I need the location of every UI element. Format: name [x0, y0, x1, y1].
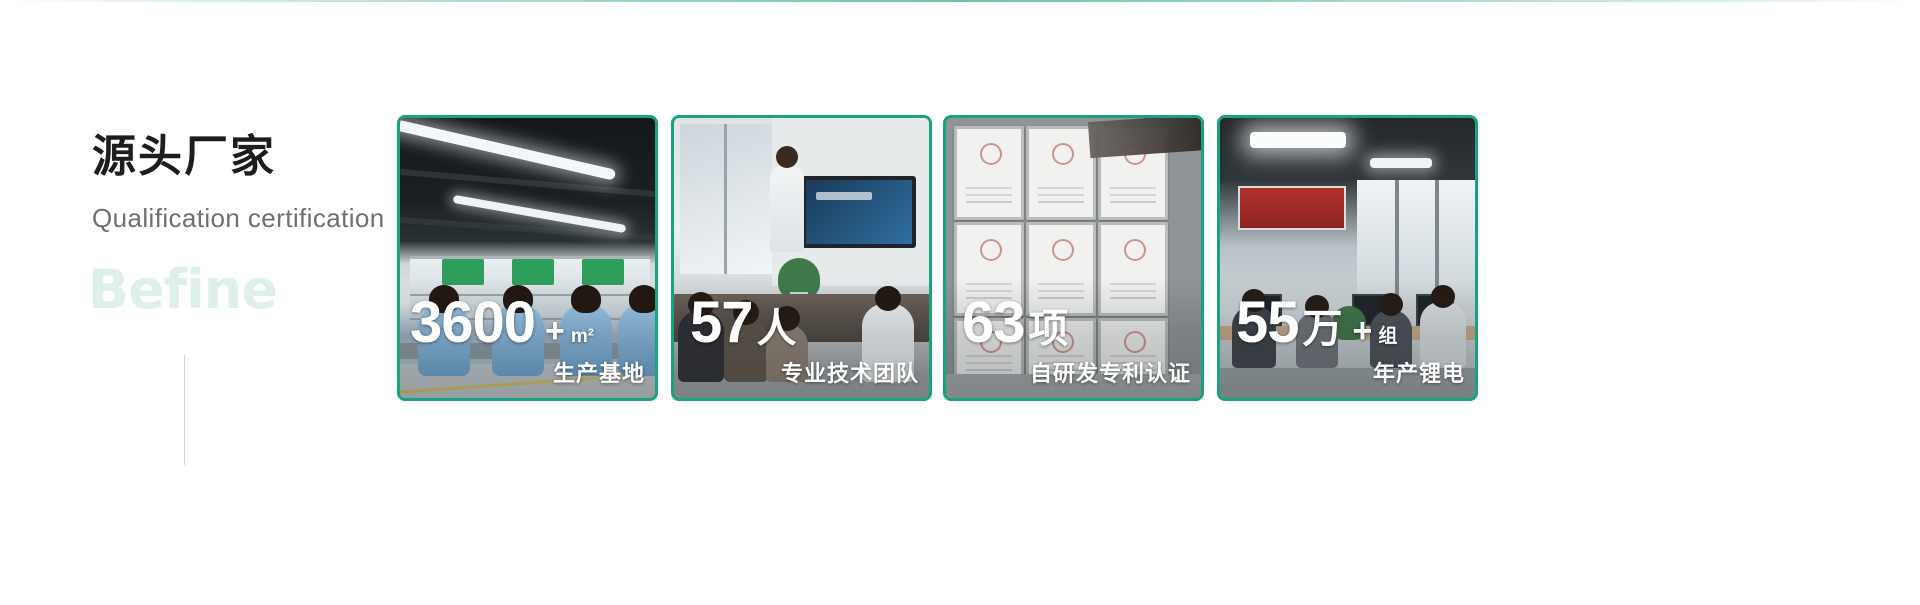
vertical-divider	[184, 355, 185, 465]
stat-superscript: 组	[1378, 327, 1397, 346]
stat-number: 57	[690, 294, 753, 352]
stat-plus: +	[1353, 314, 1373, 348]
stat-label: 年产锂电	[1230, 356, 1465, 388]
stat-label: 自研发专利认证	[956, 356, 1191, 388]
stat-number: 63	[962, 294, 1025, 352]
stat-number: 55	[1236, 294, 1299, 352]
top-accent-rule	[0, 0, 1920, 2]
stat-overlay: 63 项 自研发专利认证	[946, 294, 1201, 388]
stat-overlay: 55 万 + 组 年产锂电	[1220, 294, 1475, 388]
stat-unit: 万	[1303, 309, 1343, 349]
stat-card-patents[interactable]: 63 项 自研发专利认证	[943, 115, 1204, 401]
stat-card-tech-team[interactable]: 57 人 专业技术团队	[671, 115, 932, 401]
stat-number: 3600	[410, 294, 535, 352]
stat-superscript: m²	[571, 327, 594, 346]
stat-card-annual-output[interactable]: 55 万 + 组 年产锂电	[1217, 115, 1478, 401]
stat-label: 生产基地	[410, 356, 645, 388]
stats-card-row: 3600 + m² 生产基地	[397, 115, 1497, 395]
stat-plus: +	[545, 314, 565, 348]
stat-overlay: 3600 + m² 生产基地	[400, 294, 655, 388]
banner-section: 源头厂家 Qualification certification Befine	[0, 0, 1920, 605]
stat-unit: 人	[757, 309, 797, 349]
stat-overlay: 57 人 专业技术团队	[674, 294, 929, 388]
stat-card-production-base[interactable]: 3600 + m² 生产基地	[397, 115, 658, 401]
stat-label: 专业技术团队	[684, 356, 919, 388]
stat-unit: 项	[1029, 309, 1069, 349]
